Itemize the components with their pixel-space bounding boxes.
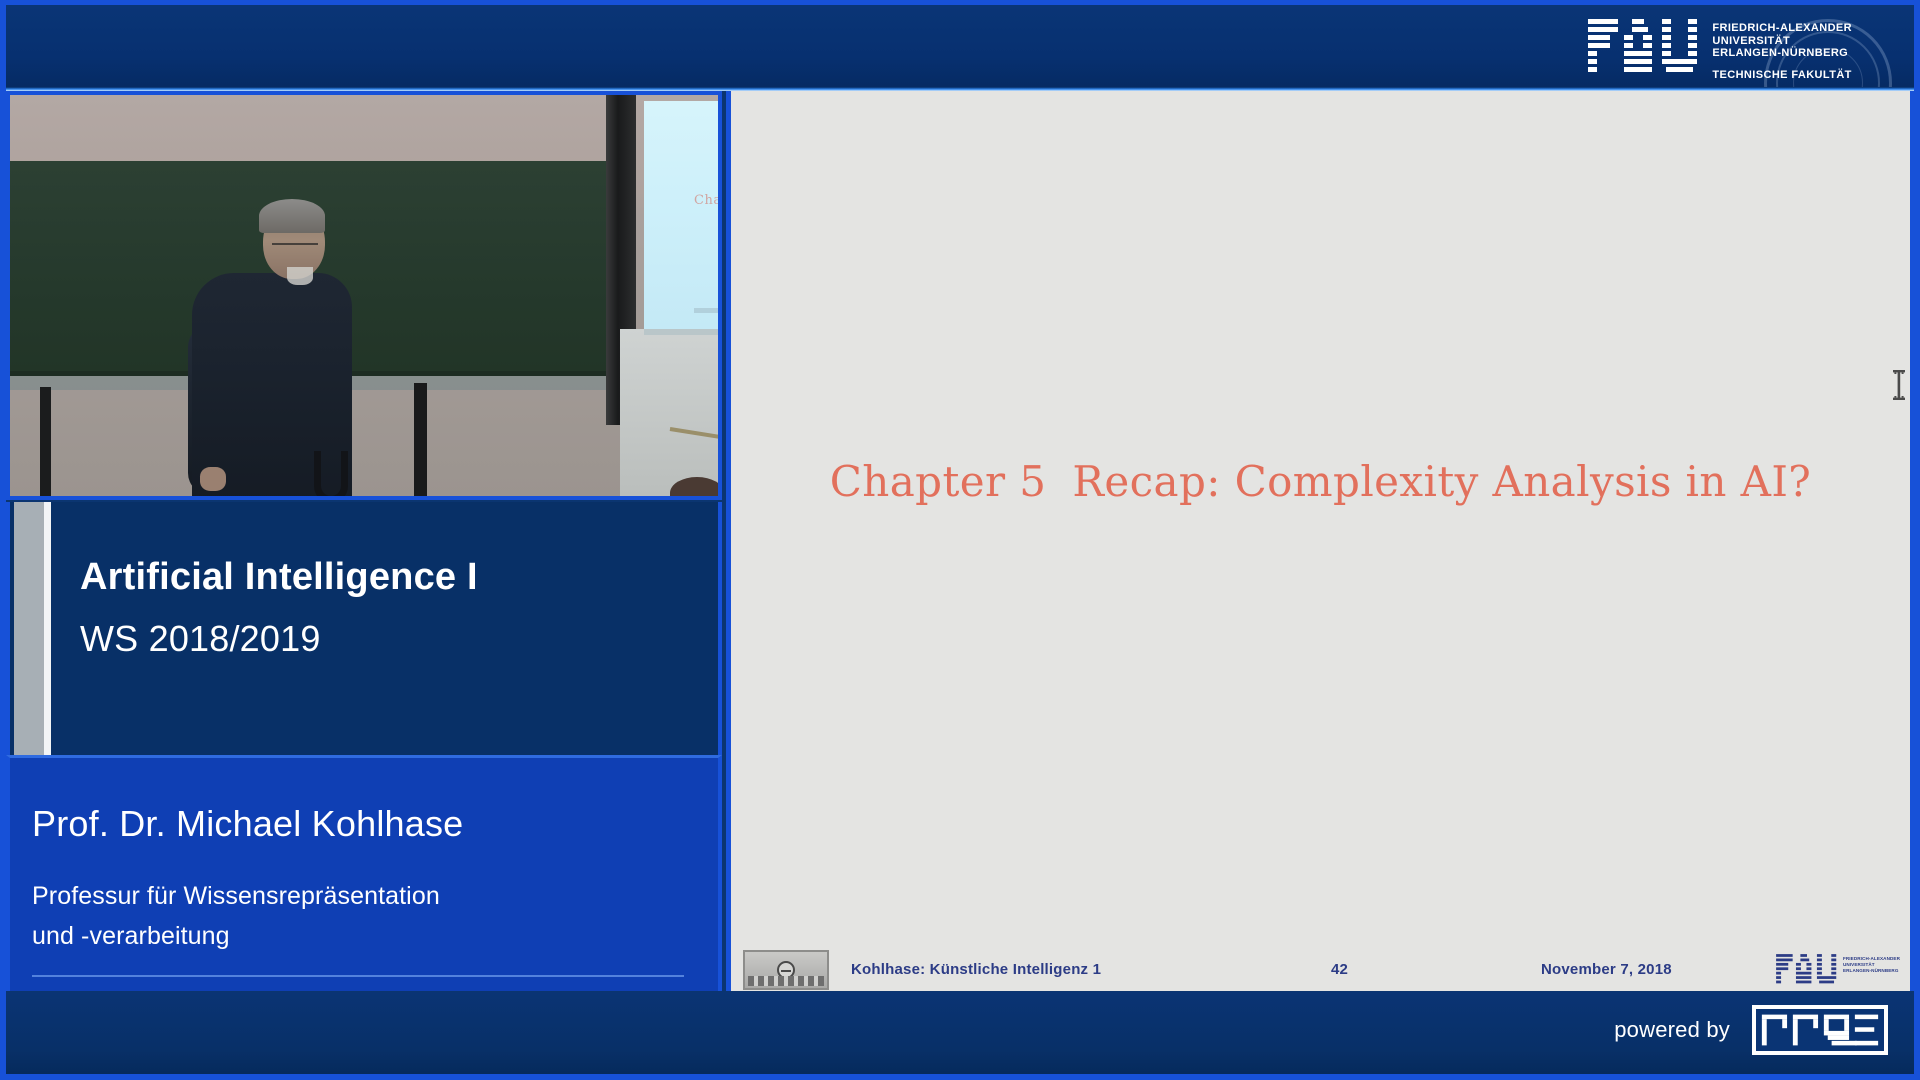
video-wall-panel-left [620,329,722,500]
powered-by-block: powered by [1614,1005,1888,1055]
video-lecturer-glasses [272,243,318,251]
fau-institution-text: FRIEDRICH-ALEXANDER UNIVERSITÄT ERLANGEN… [1712,17,1852,81]
video-lecturer-hair [259,199,325,233]
presenter-name: Prof. Dr. Michael Kohlhase [32,803,463,845]
video-audience-head [670,477,722,500]
institution-line-1: FRIEDRICH-ALEXANDER [1712,22,1852,35]
page-footer: powered by [6,992,1914,1074]
title-accent-gray-bar [14,502,44,755]
fau-logo: FRIEDRICH-ALEXANDER UNIVERSITÄT ERLANGEN… [1588,17,1852,81]
rrze-logo-glyph [1758,1011,1882,1049]
slide-title-text: Recap: Complexity Analysis in AI? [1072,457,1811,506]
course-term: WS 2018/2019 [80,616,478,662]
presenter-role: Professur für Wissensrepräsentation und … [32,876,440,956]
rrze-logo-icon[interactable] [1752,1005,1888,1055]
powered-by-label: powered by [1614,1017,1730,1043]
slide-footer: Kohlhase: Künstliche Intelligenz 1 42 No… [731,935,1910,991]
slide-title: Chapter 5Recap: Complexity Analysis in A… [731,457,1910,506]
lecture-video[interactable]: Chapter 5 Recap: Complexity Analysis in … [6,91,722,500]
text-cursor-ibeam-icon [1891,368,1907,402]
footer-logo-sub-3: ERLANGEN-NÜRNBERG [1843,968,1900,974]
course-title: Artificial Intelligence I [80,554,478,600]
slide-footer-date: November 7, 2018 [1541,961,1672,978]
title-accent-white-bar [44,502,51,755]
presenter-block: Prof. Dr. Michael Kohlhase Professur für… [6,755,722,991]
presenter-role-line-1: Professur für Wissensrepräsentation [32,876,440,916]
player-page: FRIEDRICH-ALEXANDER UNIVERSITÄT ERLANGEN… [0,0,1920,1080]
slide-footer-author: Kohlhase: Künstliche Intelligenz 1 [851,961,1101,978]
page-header: FRIEDRICH-ALEXANDER UNIVERSITÄT ERLANGEN… [6,5,1914,91]
video-projection-screen: Chapter 5 Recap: Complexity Analysis in … [644,101,722,329]
presenter-divider [32,975,684,977]
course-title-block: Artificial Intelligence I WS 2018/2019 [6,502,722,755]
slide-footer-page-number: 42 [1331,961,1348,978]
slide-viewer[interactable]: Chapter 5Recap: Complexity Analysis in A… [726,91,1914,991]
fau-wordmark-icon-small [1776,953,1838,985]
projected-slide-title: Chapter 5 Recap: Complexity Analysis in … [694,193,722,208]
video-post-left [40,387,51,499]
projected-slide-footer [694,308,722,313]
video-lecturer-hand [200,467,226,491]
faculty-line: TECHNISCHE FAKULTÄT [1712,69,1852,82]
video-lecturer-strap [314,451,348,500]
fau-wordmark-icon [1588,17,1700,75]
video-post-center [414,383,427,500]
creative-commons-badge-icon [743,950,829,990]
slide-footer-fau-subtext: FRIEDRICH-ALEXANDER UNIVERSITÄT ERLANGEN… [1843,953,1900,974]
institution-line-2: UNIVERSITÄT [1712,35,1852,48]
slide-footer-fau-logo: FRIEDRICH-ALEXANDER UNIVERSITÄT ERLANGEN… [1776,953,1900,985]
slide-chapter-label: Chapter 5 [830,457,1047,506]
video-lecturer-beard [287,267,313,285]
presenter-role-line-2: und -verarbeitung [32,916,440,956]
institution-line-3: ERLANGEN-NÜRNBERG [1712,47,1852,60]
